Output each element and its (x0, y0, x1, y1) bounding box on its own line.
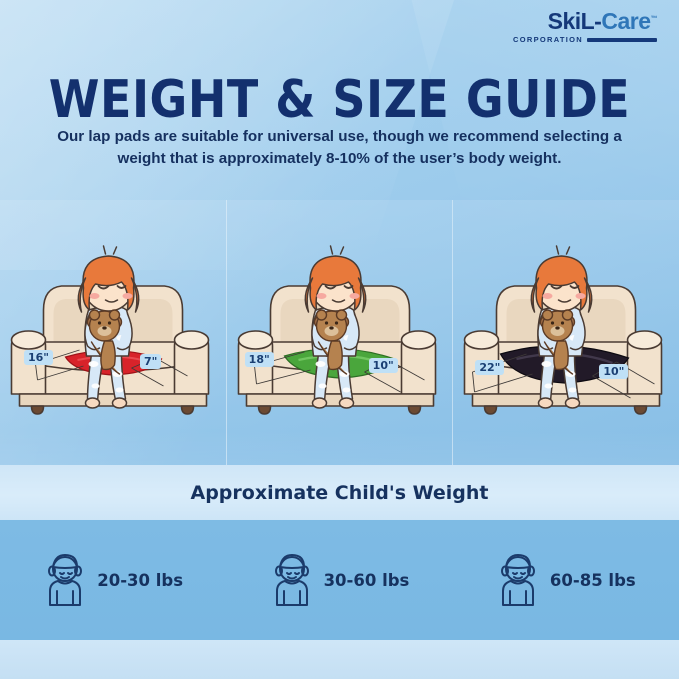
weight-size-guide-infographic: SkiL-Care™ CORPORATION WEIGHT & SIZE GUI… (0, 0, 679, 679)
dim-depth-3: 10" (599, 364, 628, 379)
child-icon (496, 553, 540, 607)
illustration-panels: 16" 7" (0, 200, 679, 465)
child-sofa-illustration-2 (232, 214, 447, 429)
scene-child-on-sofa (459, 214, 674, 434)
scene-child-on-sofa (232, 214, 447, 434)
logo-rule (587, 38, 657, 42)
brand-name-bold: SkiL- (548, 8, 602, 34)
brand-logo: SkiL-Care™ CORPORATION (513, 10, 657, 44)
weights-heading: Approximate Child's Weight (190, 482, 488, 504)
weight-item-3: 60-85 lbs (453, 553, 679, 607)
scene-child-on-sofa (5, 214, 220, 434)
page-title: WEIGHT & SIZE GUIDE (0, 69, 679, 129)
panel-size-small: 16" 7" (0, 200, 226, 465)
trademark-symbol: ™ (651, 15, 658, 22)
brand-corporation-label: CORPORATION (513, 35, 583, 44)
child-icon (43, 553, 87, 607)
panel-size-large: 22" 10" (452, 200, 679, 465)
dim-width-2: 18" (245, 352, 274, 367)
dim-depth-2: 10" (369, 358, 398, 373)
weight-label-1: 20-30 lbs (97, 571, 183, 590)
dim-width-3: 22" (475, 360, 504, 375)
child-sofa-illustration-1 (5, 214, 220, 429)
weight-item-1: 20-30 lbs (0, 553, 226, 607)
weights-band: 20-30 lbs 30-60 lbs (0, 520, 679, 640)
weights-heading-band: Approximate Child's Weight (0, 465, 679, 520)
weight-item-2: 30-60 lbs (226, 553, 452, 607)
dim-width-1: 16" (24, 350, 53, 365)
weight-label-3: 60-85 lbs (550, 571, 636, 590)
child-sofa-illustration-3 (459, 214, 674, 429)
brand-wordmark: SkiL-Care™ (513, 10, 657, 33)
dim-depth-1: 7" (140, 354, 161, 369)
weight-label-2: 30-60 lbs (324, 571, 410, 590)
panel-size-medium: 18" 10" (226, 200, 453, 465)
child-icon (270, 553, 314, 607)
brand-name-light: Care (601, 8, 650, 34)
page-subtitle: Our lap pads are suitable for universal … (52, 126, 627, 170)
brand-subline: CORPORATION (513, 35, 657, 44)
footer-band (0, 640, 679, 679)
